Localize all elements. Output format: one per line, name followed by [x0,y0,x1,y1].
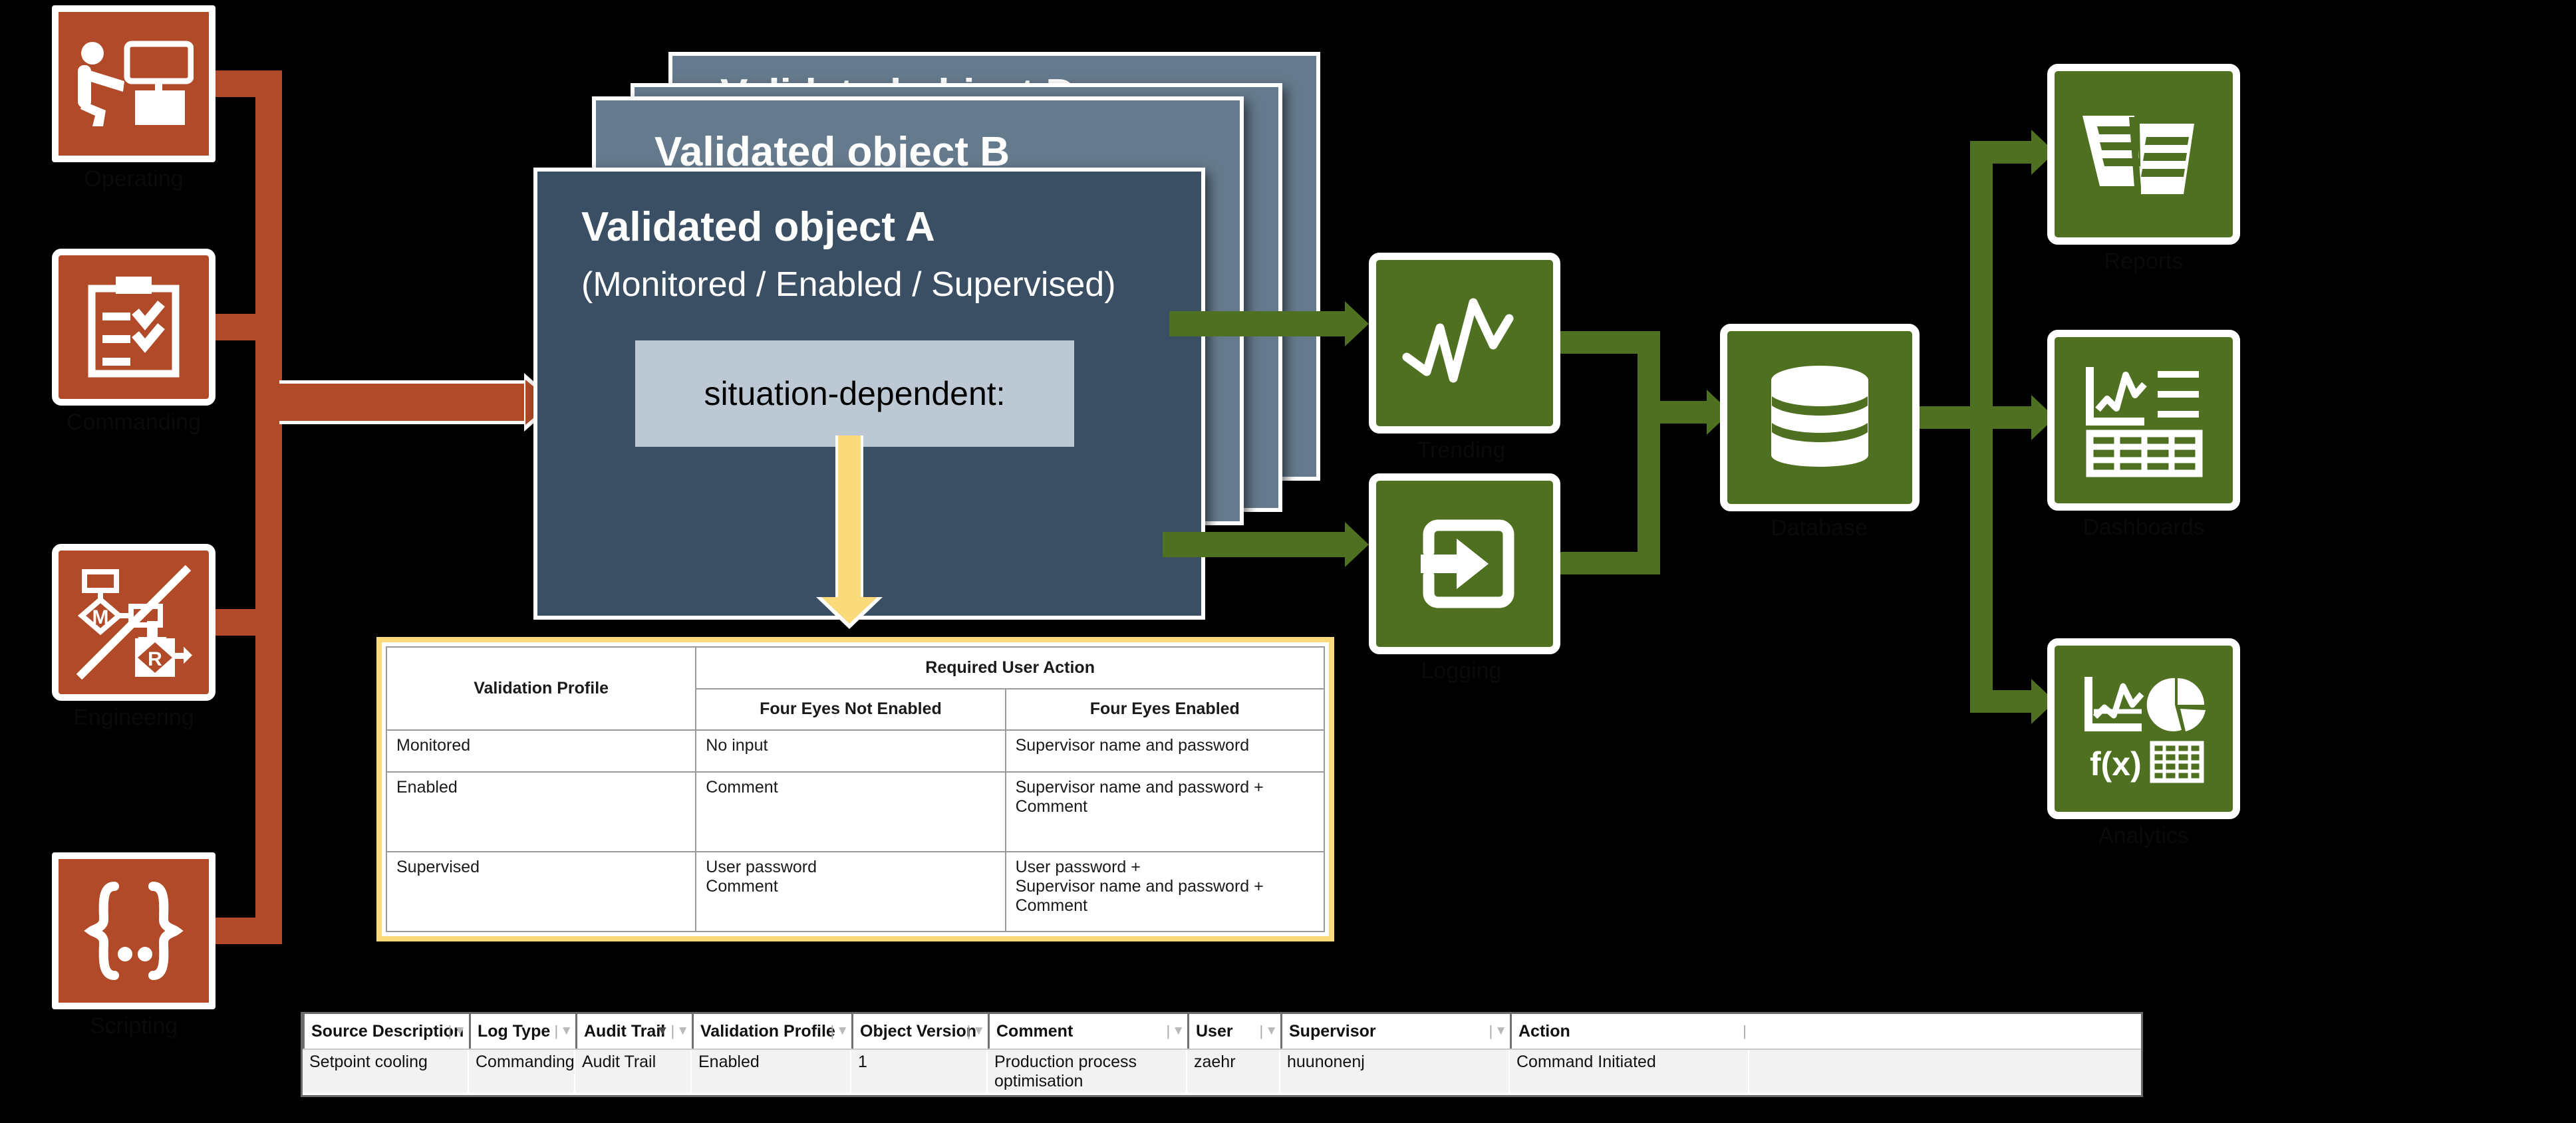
audit-col-action[interactable]: Action | [1510,1014,1749,1049]
vp-cell-enabled: Supervisor name and password [1006,730,1324,772]
cell-object-version: 1 [851,1050,988,1092]
trend-signal-icon [1401,293,1528,393]
flow-arrow-to-logging-head [1345,522,1369,567]
storage-icon-database[interactable] [1720,324,1920,511]
col-label: Source Description [311,1022,464,1041]
vp-row: Supervised User password Comment User pa… [386,852,1324,932]
vp-cell-profile: Monitored [386,730,696,772]
col-label: Audit Trail [584,1022,665,1041]
operator-workstation-icon [74,37,194,130]
flow-arrow-to-logging-shaft [1163,532,1349,557]
validation-profile-table: Validation Profile Required User Action … [376,637,1334,941]
source-icon-operating[interactable] [52,5,215,162]
route-output-reports [1970,141,2035,164]
output-icon-reports[interactable] [2047,64,2240,245]
analytics-fx-icon: f(x) [2080,669,2207,789]
cell-source-description: Setpoint cooling [303,1050,469,1092]
col-label: User [1196,1022,1233,1041]
database-icon [1763,358,1876,477]
checklist-icon [84,274,184,380]
vp-subheader-four-eyes-enabled: Four Eyes Enabled [1006,689,1324,731]
process-label-trending: Trending [1352,437,1571,463]
validation-link-arrow-shaft [835,436,863,598]
source-icon-commanding[interactable] [52,249,215,406]
audit-col-object-version[interactable]: Object Version |▼ [851,1014,988,1049]
vp-cell-not-enabled: User password Comment [696,852,1005,932]
output-icon-analytics[interactable]: f(x) [2047,638,2240,819]
sort-controls[interactable]: ▼|▼ [656,1023,689,1040]
sort-controls[interactable]: |▼ [448,1023,466,1040]
cell-action: Command Initiated [1510,1050,1749,1092]
engineering-config-icon: M R [74,562,194,682]
audit-col-supervisor[interactable]: Supervisor |▼ [1280,1014,1510,1049]
flow-arrow-to-validated-object [279,380,529,424]
flow-arrow-to-trending-head [1345,301,1369,346]
diagram-canvas: Operating Commanding M [0,0,2576,1123]
sort-controls[interactable]: |▼ [554,1023,573,1040]
storage-label-database: Database [1709,515,1929,541]
process-icon-trending[interactable] [1369,253,1560,434]
connector-stub-operating [215,70,255,97]
audit-col-user[interactable]: User |▼ [1187,1014,1280,1049]
col-label: Supervisor [1289,1022,1376,1041]
vp-header-required-user-action: Required User Action [696,647,1324,689]
route-vertical-join [1638,331,1660,574]
svg-text:f(x): f(x) [2090,745,2142,783]
audit-col-validation-profile[interactable]: Validation Profile |▼ [692,1014,851,1049]
col-label: Log Type [478,1022,550,1041]
audit-col-source-description[interactable]: Source Description |▼ [303,1014,469,1049]
output-label-dashboards: Dashboards [2034,515,2253,541]
col-label: Object Version [860,1022,976,1041]
connector-vertical-rail [255,70,282,944]
vp-cell-enabled: User password + Supervisor name and pass… [1006,852,1324,932]
audit-trail-header-row: Source Description |▼ Log Type |▼ Audit … [303,1014,2141,1050]
situation-dependent-box: situation-dependent: [635,340,1074,447]
output-icon-dashboards[interactable] [2047,330,2240,511]
source-label-operating: Operating [24,166,243,192]
audit-col-comment[interactable]: Comment |▼ [988,1014,1187,1049]
script-braces-icon [77,881,190,981]
route-output-dashboards [1970,406,2035,429]
source-label-scripting: Scripting [24,1013,243,1039]
audit-trail-row[interactable]: Setpoint cooling Commanding Audit Trail … [303,1050,2141,1092]
source-label-commanding: Commanding [24,410,243,436]
route-output-analytics [1970,690,2035,713]
process-icon-logging[interactable] [1369,473,1560,654]
validation-link-arrow-head [821,597,877,624]
source-label-engineering: Engineering [24,705,243,731]
login-entry-icon [1405,511,1524,617]
vp-cell-profile: Supervised [386,852,696,932]
connector-stub-commanding [215,314,255,340]
svg-text:M: M [92,606,109,628]
source-icon-engineering[interactable]: M R [52,544,215,701]
vp-cell-not-enabled: No input [696,730,1005,772]
connector-stub-scripting [215,918,255,944]
vp-cell-profile: Enabled [386,772,696,852]
output-label-reports: Reports [2034,249,2253,275]
validated-object-title-a: Validated object A [581,203,935,251]
situation-dependent-label: situation-dependent: [704,374,1005,413]
chart-table-icon [2080,360,2207,480]
audit-col-audit-trail[interactable]: Audit Trail ▼|▼ [575,1014,692,1049]
vp-subheader-four-eyes-not-enabled: Four Eyes Not Enabled [696,689,1005,731]
cell-supervisor: huunonenj [1280,1050,1510,1092]
source-icon-scripting[interactable] [52,852,215,1009]
col-label: Validation Profile [700,1022,835,1041]
validated-object-subtitle: (Monitored / Enabled / Supervised) [581,265,1116,305]
output-label-analytics: Analytics [2034,823,2253,849]
connector-stub-engineering [215,609,255,636]
cell-audit-trail: Audit Trail [575,1050,692,1092]
vp-row: Enabled Comment Supervisor name and pass… [386,772,1324,852]
sort-controls[interactable]: |▼ [966,1023,985,1040]
flow-arrow-to-trending-shaft [1169,311,1349,336]
process-label-logging: Logging [1352,658,1571,684]
sort-controls[interactable]: | [1743,1023,1747,1040]
route-to-database [1638,401,1711,424]
sort-controls[interactable]: |▼ [830,1023,849,1040]
sort-controls[interactable]: |▼ [1259,1023,1278,1040]
vp-header-validation-profile: Validation Profile [386,647,696,730]
audit-trail-grid[interactable]: Source Description |▼ Log Type |▼ Audit … [301,1012,2143,1097]
svg-text:R: R [148,648,162,670]
cell-validation-profile: Enabled [692,1050,851,1092]
col-label: Action [1518,1022,1570,1041]
report-document-icon [2077,108,2210,201]
vp-cell-not-enabled: Comment [696,772,1005,852]
vp-cell-enabled: Supervisor name and password + Comment [1006,772,1324,852]
cell-comment: Production process optimisation [988,1050,1187,1092]
cell-user: zaehr [1187,1050,1280,1092]
cell-log-type: Commanding [469,1050,575,1092]
audit-col-log-type[interactable]: Log Type |▼ [469,1014,575,1049]
vp-row: Monitored No input Supervisor name and p… [386,730,1324,772]
col-label: Comment [996,1022,1073,1041]
sort-controls[interactable]: |▼ [1489,1023,1507,1040]
sort-controls[interactable]: |▼ [1166,1023,1185,1040]
